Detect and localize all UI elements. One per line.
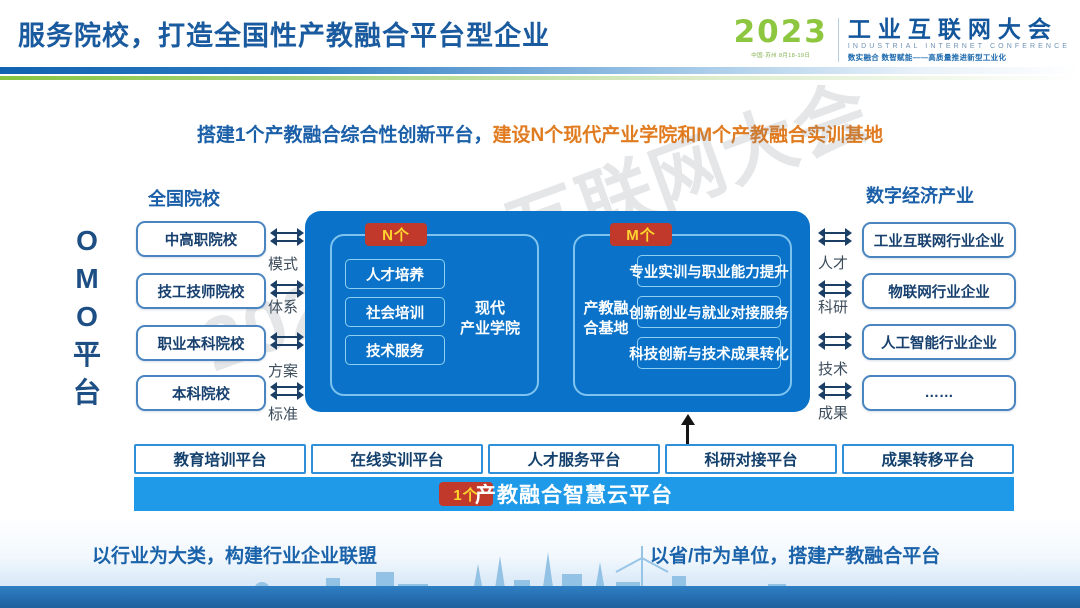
logo-year-block: 2023 中国·苏州 8月18-19日: [734, 16, 838, 59]
logo-english-name: INDUSTRIAL INTERNET CONFERENCE: [848, 42, 1070, 52]
omo-char-4: 平: [64, 336, 110, 374]
industry-box-iot[interactable]: 物联网行业企业: [862, 273, 1016, 309]
base-label: 产教融 合基地: [577, 299, 635, 339]
slide: 服务院校，打造全国性产教融合平台型企业 2023 中国·苏州 8月18-19日 …: [0, 0, 1080, 608]
logo-year: 2023: [734, 16, 828, 48]
badge-m-count: M个: [610, 223, 672, 246]
right-arrow-label-tech: 技术: [818, 358, 848, 379]
badge-n-count: N个: [365, 223, 427, 246]
industry-box-industrial-internet[interactable]: 工业互联网行业企业: [862, 222, 1016, 258]
omo-platform-vertical-label: O M O 平 台: [64, 222, 110, 412]
college-item-technical-service[interactable]: 技术服务: [345, 335, 445, 365]
header-rule-green: [0, 76, 1080, 80]
logo-divider: [838, 18, 839, 62]
base-label-line1: 产教融: [577, 299, 635, 319]
base-item-practical-training[interactable]: 专业实训与职业能力提升: [637, 255, 781, 287]
school-box-vocational[interactable]: 中高职院校: [136, 221, 266, 257]
platform-box-talent-service[interactable]: 人才服务平台: [488, 444, 660, 474]
left-arrow-label-plan: 方案: [268, 360, 298, 381]
college-label-line2: 产业学院: [451, 319, 529, 339]
left-arrow-1: [270, 228, 304, 246]
platform-box-education-training[interactable]: 教育培训平台: [134, 444, 306, 474]
platform-box-online-training[interactable]: 在线实训平台: [311, 444, 483, 474]
cloud-platform-label: 产教融合智慧云平台: [134, 479, 1014, 509]
right-column-heading: 数字经济产业: [866, 182, 974, 208]
left-arrow-3: [270, 332, 304, 350]
left-arrow-label-system: 体系: [268, 296, 298, 317]
base-item-tech-transfer[interactable]: 科技创新与技术成果转化: [637, 337, 781, 369]
footer-bottom-bar: [0, 586, 1080, 608]
logo-chinese-name: 工业互联网大会: [848, 17, 1070, 42]
omo-char-3: O: [64, 298, 110, 336]
base-item-entrepreneurship[interactable]: 创新创业与就业对接服务: [637, 296, 781, 328]
school-box-undergrad[interactable]: 本科院校: [136, 375, 266, 411]
omo-char-2: M: [64, 260, 110, 298]
school-box-technician[interactable]: 技工技师院校: [136, 273, 266, 309]
cloud-platform-bar: 1个 产教融合智慧云平台: [134, 477, 1014, 511]
omo-char-1: O: [64, 222, 110, 260]
industry-box-ai[interactable]: 人工智能行业企业: [862, 324, 1016, 360]
platform-row: 教育培训平台 在线实训平台 人才服务平台 科研对接平台 成果转移平台: [134, 444, 1014, 474]
right-arrow-label-research: 科研: [818, 296, 848, 317]
center-platform-panel: N个 人才培养 社会培训 技术服务 现代 产业学院 M个 产教融 合基地 专业实…: [305, 211, 810, 412]
platform-box-results-transfer[interactable]: 成果转移平台: [842, 444, 1014, 474]
page-title: 服务院校，打造全国性产教融合平台型企业: [18, 14, 550, 53]
modern-industry-college-label: 现代 产业学院: [451, 299, 529, 339]
footer-text-right: 以省/市为单位，搭建产教融合平台: [650, 541, 940, 568]
logo-text-block: 工业互联网大会 INDUSTRIAL INTERNET CONFERENCE 数…: [848, 16, 1070, 63]
header-rule-blue: [0, 67, 1080, 74]
lead-part-orange: 建设N个现代产业学院和M个产教融合实训基地: [493, 125, 884, 146]
left-column-heading: 全国院校: [148, 185, 220, 211]
lead-heading: 搭建1个产教融合综合性创新平台，建设N个现代产业学院和M个产教融合实训基地: [0, 120, 1080, 147]
school-box-vocational-undergrad[interactable]: 职业本科院校: [136, 325, 266, 361]
industry-box-more[interactable]: ……: [862, 375, 1016, 411]
college-item-social-training[interactable]: 社会培训: [345, 297, 445, 327]
slide-footer: 以行业为大类，构建行业企业联盟 以省/市为单位，搭建产教融合平台: [0, 516, 1080, 608]
up-arrow-icon: [681, 414, 695, 447]
right-arrow-3: [818, 332, 852, 350]
college-item-talent-training[interactable]: 人才培养: [345, 259, 445, 289]
left-arrow-4: [270, 382, 304, 400]
omo-char-5: 台: [64, 374, 110, 412]
logo-year-subtitle: 中国·苏州 8月18-19日: [734, 51, 828, 59]
lead-part-blue: 搭建1个产教融合综合性创新平台，: [197, 125, 493, 146]
right-arrow-4: [818, 382, 852, 400]
college-label-line1: 现代: [451, 299, 529, 319]
right-arrow-label-results: 成果: [818, 402, 848, 423]
footer-text-left: 以行业为大类，构建行业企业联盟: [92, 541, 377, 568]
conference-logo: 2023 中国·苏州 8月18-19日 工业互联网大会 INDUSTRIAL I…: [734, 16, 1070, 63]
left-arrow-label-standard: 标准: [268, 403, 298, 424]
platform-box-research-matching[interactable]: 科研对接平台: [665, 444, 837, 474]
logo-tagline: 数实融合 数智赋能——高质量推进新型工业化: [848, 52, 1070, 63]
slide-header: 服务院校，打造全国性产教融合平台型企业 2023 中国·苏州 8月18-19日 …: [0, 0, 1080, 88]
left-arrow-label-mode: 模式: [268, 253, 298, 274]
right-arrow-1: [818, 228, 852, 246]
right-arrow-label-talent: 人才: [818, 252, 848, 273]
base-label-line2: 合基地: [577, 319, 635, 339]
